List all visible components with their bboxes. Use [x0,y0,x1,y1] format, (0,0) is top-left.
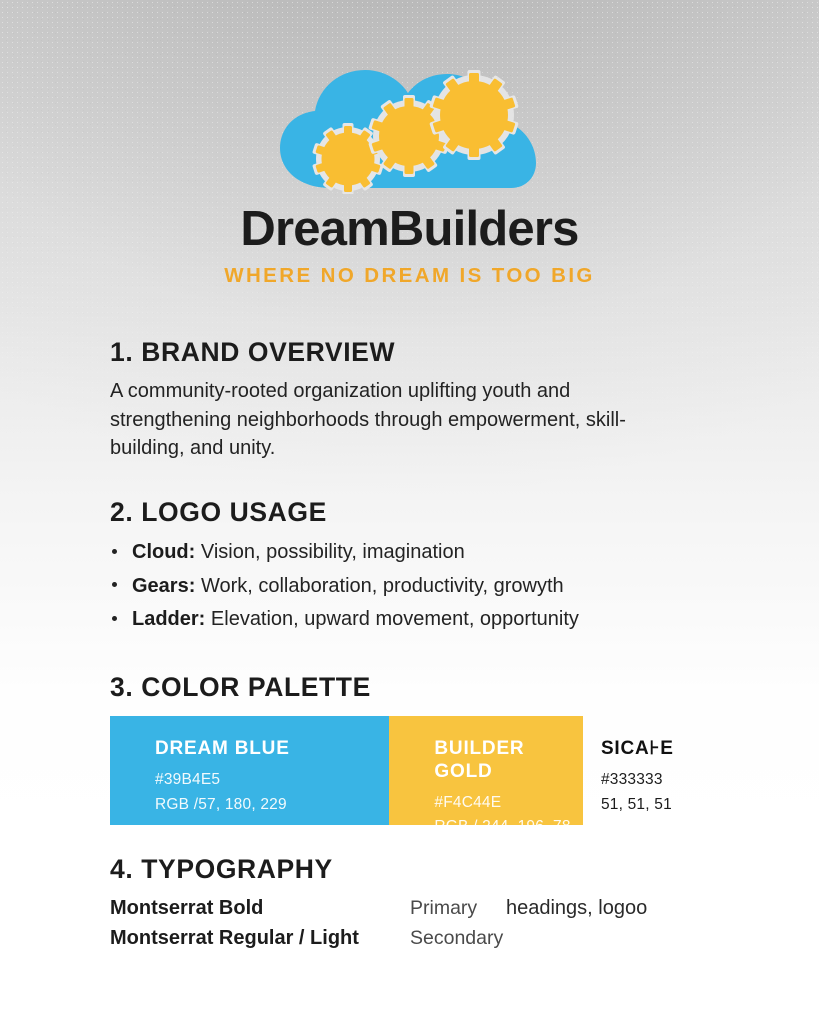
typeface-role: Primary [410,897,506,920]
table-row: Montserrat Regular / Light Secondary [110,927,709,950]
swatch-name: BUILDER GOLD [434,738,583,784]
section-title-color-palette: 3. COLOR PALETTE [110,672,709,702]
swatch-hex: #39B4E5 [155,768,389,792]
logo-block: DreamBuilders WHERE NO DREAM IS TOO BIG [0,0,819,288]
logo-tagline: WHERE NO DREAM IS TOO BIG [0,264,819,288]
color-swatch-dream-blue: DREAM BLUE #39B4E5 RGB /57, 180, 229 [110,716,389,825]
bullet-dot-icon [112,616,117,621]
list-item: Cloud: Vision, possibility, imagination [132,536,709,570]
list-item: Gears: Work, collaboration, productivity… [132,570,709,604]
list-item-term: Ladder: [132,608,205,630]
section-logo-usage: 2. LOGO USAGE Cloud: Vision, possibility… [0,497,819,637]
brand-overview-body: A community-rooted organization upliftin… [110,377,670,463]
color-swatch-slate: SICA⊦E #333333 51, 51, 51 [583,716,709,825]
list-item-term: Gears: [132,575,195,597]
color-swatch-row: DREAM BLUE #39B4E5 RGB /57, 180, 229 BUI… [110,716,709,825]
cloud-with-gears-logo [273,62,547,194]
section-title-brand-overview: 1. BRAND OVERVIEW [110,337,709,367]
section-typography: 4. TYPOGRAPHY Montserrat Bold Primary he… [0,854,819,949]
swatch-rgb: RGB / 244, 196, 78 [434,815,583,839]
list-item-description: Elevation, upward movement, opportunity [211,608,579,630]
section-title-logo-usage: 2. LOGO USAGE [110,497,709,527]
logo-wordmark: DreamBuilders [0,204,819,255]
swatch-hex: #333333 [601,768,709,792]
swatch-rgb: 51, 51, 51 [601,793,709,817]
list-item-description: Work, collaboration, productivity, growy… [201,575,564,597]
bullet-dot-icon [112,582,117,587]
list-item: Ladder: Elevation, upward movement, oppo… [132,603,709,637]
swatch-name: DREAM BLUE [155,738,389,761]
section-brand-overview: 1. BRAND OVERVIEW A community-rooted org… [0,337,819,462]
swatch-hex: #F4C44E [434,791,583,815]
bullet-dot-icon [112,549,117,554]
typeface-name: Montserrat Regular / Light [110,927,410,950]
typeface-role: Secondary [410,927,506,950]
brand-guide-page: DreamBuilders WHERE NO DREAM IS TOO BIG … [0,0,819,1024]
section-title-typography: 4. TYPOGRAPHY [110,854,709,884]
logo-usage-list: Cloud: Vision, possibility, imagination … [110,536,709,637]
typeface-usage: headings, logoo [506,897,647,920]
list-item-term: Cloud: [132,541,195,563]
color-swatch-builder-gold: BUILDER GOLD #F4C44E RGB / 244, 196, 78 [389,716,583,825]
swatch-rgb: RGB /57, 180, 229 [155,793,389,817]
table-row: Montserrat Bold Primary headings, logoo [110,897,709,920]
typography-table: Montserrat Bold Primary headings, logoo … [110,897,709,950]
swatch-name: SICA⊦E [601,738,709,761]
typeface-name: Montserrat Bold [110,897,410,920]
list-item-description: Vision, possibility, imagination [201,541,465,563]
section-color-palette: 3. COLOR PALETTE DREAM BLUE #39B4E5 RGB … [0,672,819,825]
